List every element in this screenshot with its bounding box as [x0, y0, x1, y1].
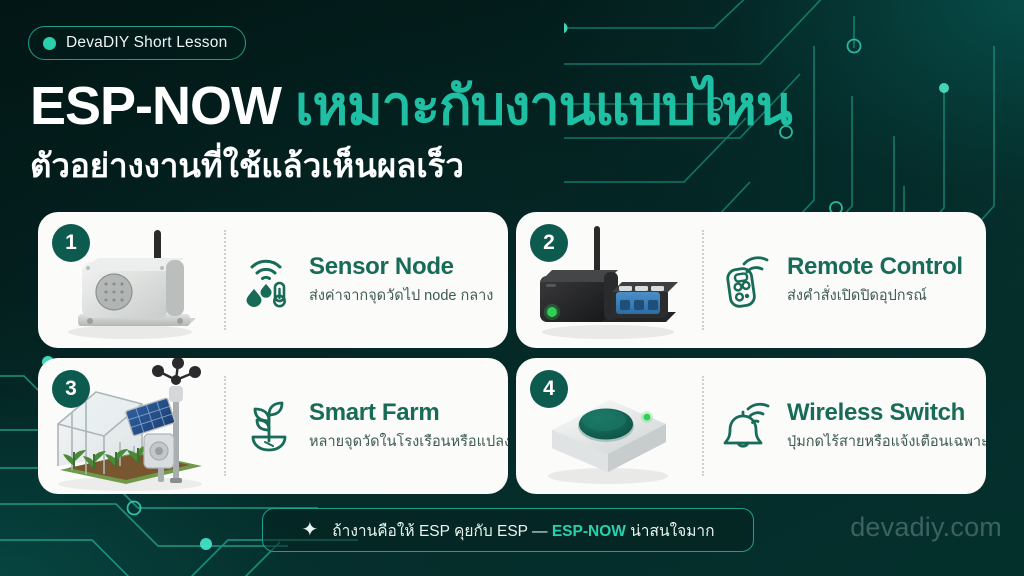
- card-subtitle: หลายจุดวัดในโรงเรือนหรือแปลง: [309, 430, 508, 453]
- footer-text-after: น่าสนใจมาก: [626, 523, 715, 540]
- card-divider: [224, 230, 226, 331]
- footer-text: ถ้างานคือให้ ESP คุยกับ ESP — ESP-NOW น่…: [332, 518, 714, 543]
- card-number-badge: 4: [530, 370, 568, 408]
- lesson-badge-label: DevaDIY Short Lesson: [66, 34, 227, 52]
- card-texts: Smart Farm หลายจุดวัดในโรงเรือนหรือแปลง: [309, 399, 508, 453]
- card-sensor-node[interactable]: 1: [38, 212, 508, 348]
- card-body: Smart Farm หลายจุดวัดในโรงเรือนหรือแปลง: [242, 397, 508, 455]
- lesson-badge: DevaDIY Short Lesson: [28, 26, 246, 60]
- page-title-en: ESP-NOW: [30, 76, 281, 136]
- remote-control-icon: [720, 251, 774, 309]
- card-texts: Wireless Switch ปุ่มกดไร้สายหรือแจ้งเตือ…: [787, 399, 986, 453]
- card-number-badge: 3: [52, 370, 90, 408]
- card-divider: [702, 230, 704, 331]
- wifi-droplet-thermometer-icon: [242, 251, 296, 309]
- card-body: Sensor Node ส่งค่าจากจุดวัดไป node กลาง: [242, 251, 508, 309]
- card-body: Wireless Switch ปุ่มกดไร้สายหรือแจ้งเตือ…: [720, 397, 986, 455]
- watermark: devadiy.com: [850, 512, 1002, 543]
- card-subtitle: ส่งคำสั่งเปิดปิดอุปกรณ์: [787, 284, 963, 307]
- card-body: Remote Control ส่งคำสั่งเปิดปิดอุปกรณ์: [720, 251, 986, 309]
- footer-text-before: ถ้างานคือให้ ESP คุยกับ ESP —: [332, 523, 552, 540]
- card-smart-farm[interactable]: 3: [38, 358, 508, 494]
- sparkle-icon: ✦: [301, 520, 318, 540]
- card-grid: 1: [38, 212, 986, 494]
- wireless-bell-icon: [720, 397, 774, 455]
- poster-canvas: DevaDIY Short Lesson ESP-NOW เหมาะกับงาน…: [0, 0, 1024, 576]
- footer-callout: ✦ ถ้างานคือให้ ESP คุยกับ ESP — ESP-NOW …: [262, 508, 754, 552]
- card-subtitle: ปุ่มกดไร้สายหรือแจ้งเตือนเฉพาะจุด: [787, 430, 986, 453]
- page-subtitle: ตัวอย่างงานที่ใช้แล้วเห็นผลเร็ว: [30, 146, 464, 186]
- card-divider: [224, 376, 226, 477]
- dot-icon: [43, 37, 56, 50]
- card-title: Wireless Switch: [787, 399, 986, 427]
- card-divider: [702, 376, 704, 477]
- card-remote-control[interactable]: 2: [516, 212, 986, 348]
- footer-highlight: ESP-NOW: [552, 523, 626, 540]
- page-title: ESP-NOW เหมาะกับงานแบบไหน: [30, 78, 792, 135]
- page-title-th: เหมาะกับงานแบบไหน: [295, 76, 792, 136]
- card-wireless-switch[interactable]: 4: [516, 358, 986, 494]
- card-texts: Remote Control ส่งคำสั่งเปิดปิดอุปกรณ์: [787, 253, 963, 307]
- card-number-badge: 1: [52, 224, 90, 262]
- card-title: Sensor Node: [309, 253, 493, 281]
- card-number-badge: 2: [530, 224, 568, 262]
- sprout-icon: [242, 397, 296, 455]
- card-texts: Sensor Node ส่งค่าจากจุดวัดไป node กลาง: [309, 253, 493, 307]
- card-subtitle: ส่งค่าจากจุดวัดไป node กลาง: [309, 284, 493, 307]
- card-title: Remote Control: [787, 253, 963, 281]
- card-title: Smart Farm: [309, 399, 508, 427]
